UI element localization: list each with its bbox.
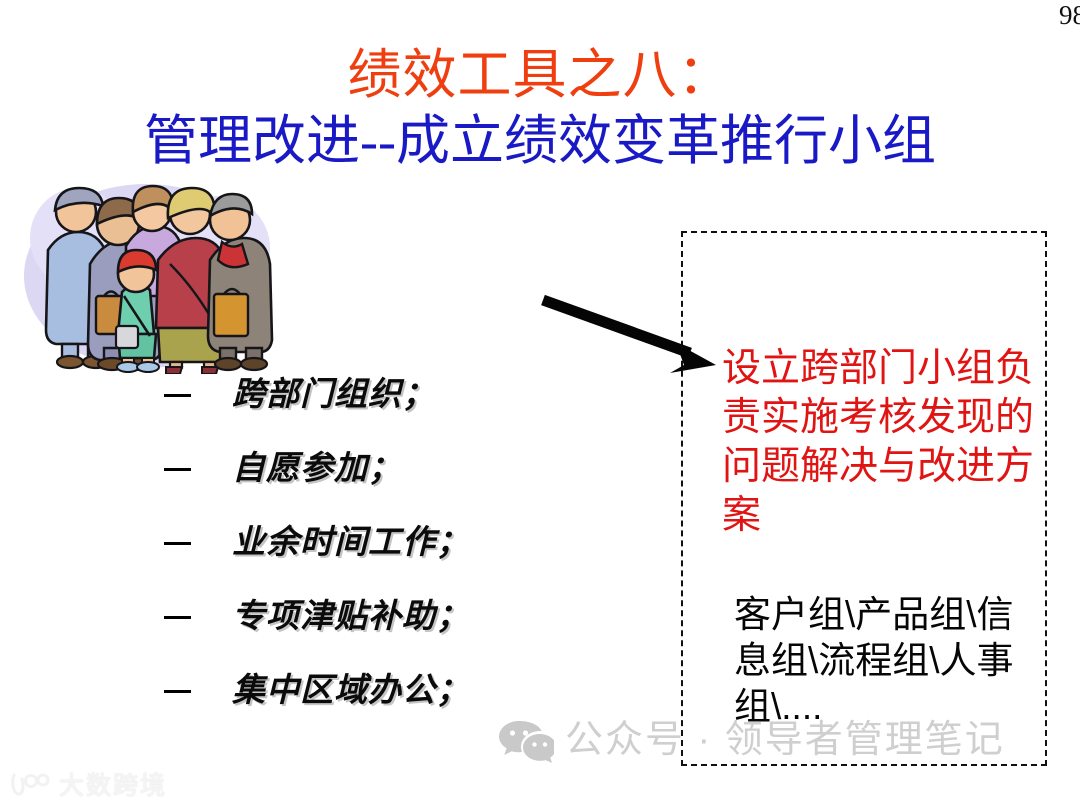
list-item-label: 专项津贴补助；	[232, 594, 470, 638]
list-item: 专项津贴补助；	[160, 594, 630, 668]
brand-watermark-label: 大数跨境	[59, 766, 167, 802]
wechat-watermark-label: 公众号 · 领导者管理笔记	[565, 716, 1005, 764]
bullet-dash-icon	[164, 394, 191, 397]
list-item-label: 业余时间工作；	[232, 520, 470, 564]
bullet-dash-icon	[164, 542, 191, 545]
page-title-line2: 管理改进--成立绩效变革推行小组	[0, 110, 1080, 172]
list-item: 业余时间工作；	[160, 520, 630, 594]
list-item: 跨部门组织；	[160, 372, 630, 446]
bullet-list: 跨部门组织； 自愿参加； 业余时间工作； 专项津贴补助； 集中区域办公；	[160, 372, 630, 742]
list-item-label: 自愿参加；	[232, 446, 402, 490]
callout-red-text: 设立跨部门小组负责实施考核发现的问题解决与改进方案	[722, 344, 1034, 540]
page-title-line1: 绩效工具之八：	[0, 44, 1080, 106]
wechat-watermark: 公众号 · 领导者管理笔记	[498, 716, 1005, 764]
list-item-label: 集中区域办公；	[232, 668, 470, 712]
group-of-people-clipart	[18, 168, 274, 374]
pointer-arrow-icon	[530, 285, 730, 380]
bullet-dash-icon	[164, 468, 191, 471]
callout-black-text: 客户组\产品组\信息组\流程组\人事组\....	[734, 592, 1039, 730]
list-item: 自愿参加；	[160, 446, 630, 520]
bullet-dash-icon	[164, 690, 191, 693]
brand-watermark: 大数跨境	[10, 766, 167, 802]
brand-logo-icon	[10, 771, 52, 797]
page-number: 98	[1059, 0, 1080, 30]
bullet-dash-icon	[164, 616, 191, 619]
list-item-label: 跨部门组织；	[232, 372, 436, 416]
slide-canvas: 98 绩效工具之八： 管理改进--成立绩效变革推行小组	[0, 0, 1080, 810]
wechat-icon	[498, 717, 554, 763]
